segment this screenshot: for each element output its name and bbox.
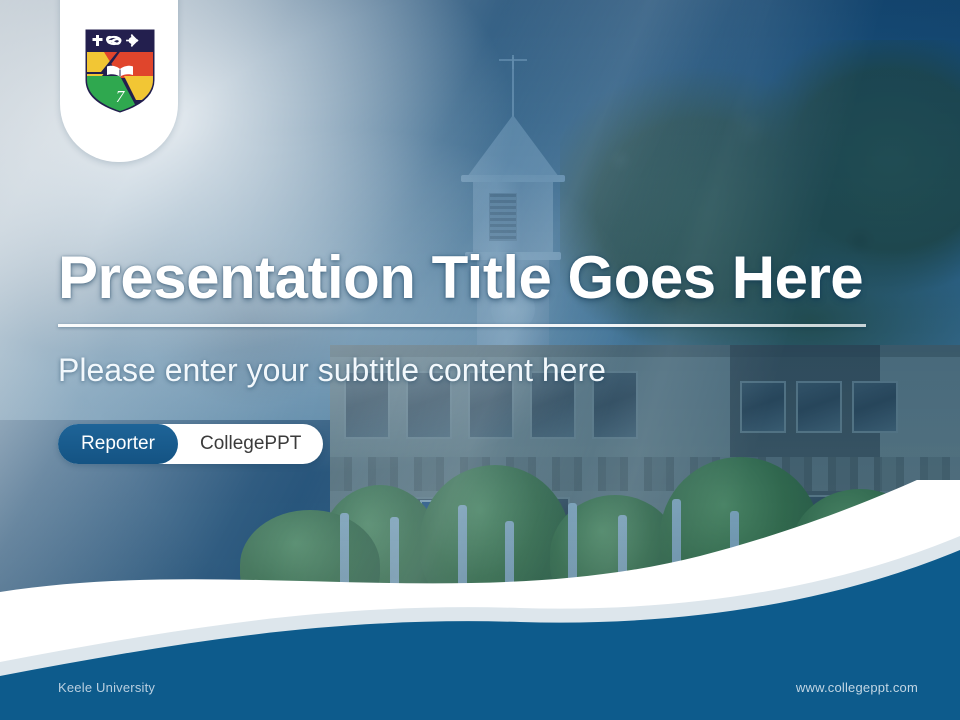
footer-organization: Keele University xyxy=(58,680,155,695)
reporter-label: Reporter xyxy=(58,424,178,464)
footer-website[interactable]: www.collegeppt.com xyxy=(796,680,918,695)
presentation-slide: 7 Presentation Title Goes Here Please en… xyxy=(0,0,960,720)
keele-university-crest: 7 xyxy=(84,28,156,114)
reporter-field[interactable]: Reporter CollegePPT xyxy=(58,424,323,464)
logo-badge: 7 xyxy=(60,0,178,162)
page-subtitle: Please enter your subtitle content here xyxy=(58,352,606,389)
title-divider-rule xyxy=(58,324,866,327)
page-title: Presentation Title Goes Here xyxy=(58,248,863,308)
reporter-value[interactable]: CollegePPT xyxy=(178,433,301,455)
